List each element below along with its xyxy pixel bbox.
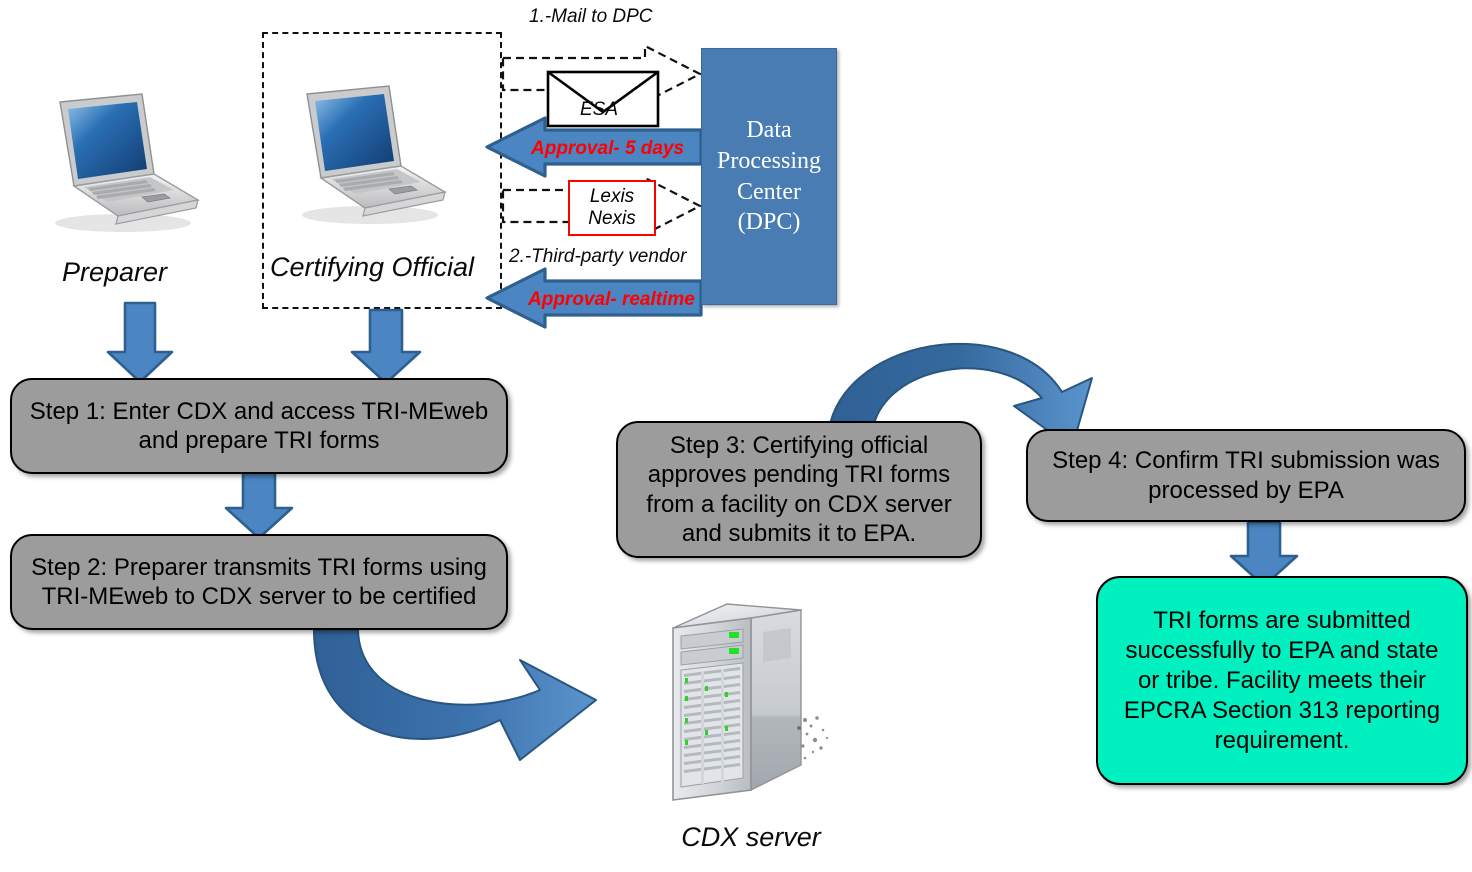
step-2-box[interactable]: Step 2: Preparer transmits TRI forms usi…	[10, 534, 508, 630]
laptop-icon	[285, 82, 455, 232]
lexis-nexis-box: Lexis Nexis	[568, 180, 656, 236]
third-party-vendor-label: 2.-Third-party vendor	[509, 246, 686, 268]
server-tower-icon	[655, 600, 845, 815]
step-1-text: Step 1: Enter CDX and access TRI-MEweb a…	[22, 397, 496, 456]
cdx-server-label: CDX server	[636, 822, 866, 853]
step-4-box[interactable]: Step 4: Confirm TRI submission was proce…	[1026, 429, 1466, 522]
outcome-box[interactable]: TRI forms are submitted successfully to …	[1096, 576, 1468, 785]
step1-to-step2-arrow	[226, 473, 292, 538]
lexis-nexis-text: Lexis Nexis	[588, 186, 636, 230]
step2-to-cdx-curved-arrow	[314, 630, 596, 760]
diagram-canvas: Preparer	[0, 0, 1472, 872]
step-3-text: Step 3: Certifying official approves pen…	[628, 431, 970, 548]
approval-5-days-label: Approval- 5 days	[531, 138, 684, 160]
laptop-icon	[38, 90, 208, 240]
preparer-to-step1-arrow	[108, 303, 172, 382]
dpc-text: Data Processing Center (DPC)	[717, 115, 821, 238]
mail-to-dpc-dashed-arrow	[503, 46, 700, 102]
approval-realtime-label: Approval- realtime	[528, 289, 695, 311]
data-processing-center-box: Data Processing Center (DPC)	[701, 48, 837, 305]
preparer-label: Preparer	[62, 257, 167, 288]
step-1-box[interactable]: Step 1: Enter CDX and access TRI-MEweb a…	[10, 378, 508, 474]
certifying-official-label: Certifying Official	[270, 252, 474, 283]
mail-to-dpc-label: 1.-Mail to DPC	[529, 6, 653, 28]
step-4-text: Step 4: Confirm TRI submission was proce…	[1038, 446, 1454, 505]
outcome-text: TRI forms are submitted successfully to …	[1112, 606, 1452, 756]
step-2-text: Step 2: Preparer transmits TRI forms usi…	[22, 553, 496, 612]
step-3-box[interactable]: Step 3: Certifying official approves pen…	[616, 421, 982, 558]
certifying-official-to-step1-arrow	[352, 310, 420, 383]
esa-envelope-label: ESA	[580, 99, 618, 121]
